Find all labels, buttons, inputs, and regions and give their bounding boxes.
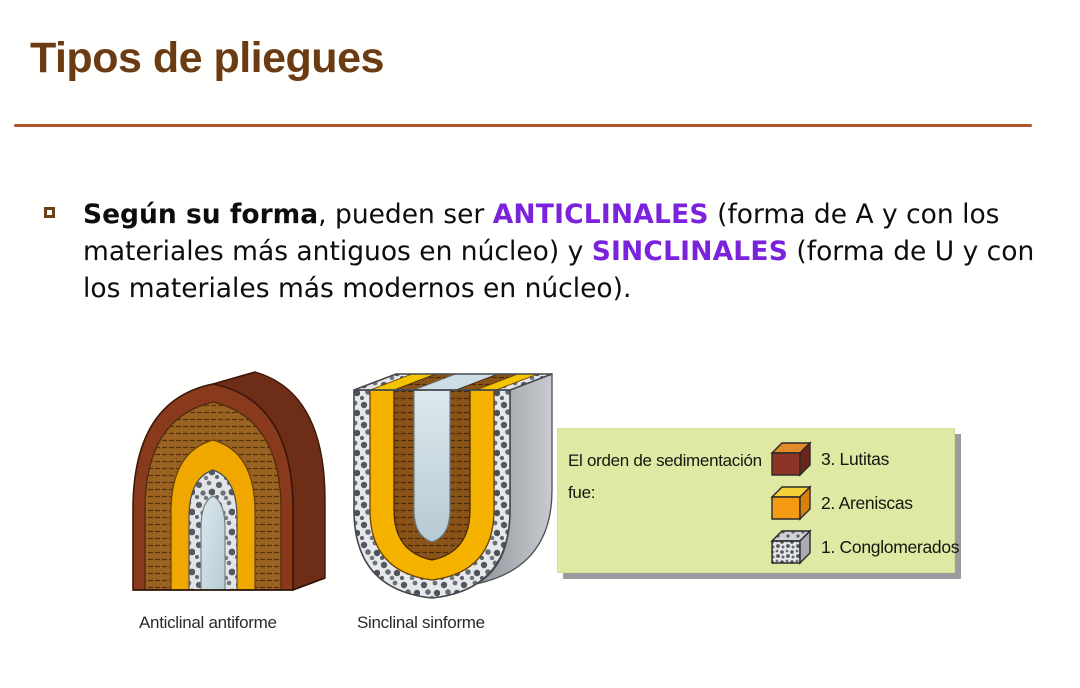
page-title: Tipos de pliegues [30,34,384,83]
keyword-anticlinales: ANTICLINALES [493,199,709,230]
bullet-item-text: Según su forma, pueden ser ANTICLINALES … [83,196,1054,307]
cube-areniscas-icon [770,485,812,521]
bullet-lead-bold: Según su forma [83,199,318,230]
cube-lutitas-icon [770,441,812,477]
anticline-block-diagram [115,360,345,610]
legend-item-conglomerados-label: 1. Conglomerados [821,537,959,558]
legend-item-areniscas: 2. Areniscas [770,481,956,525]
syncline-caption: Sinclinal sinforme [357,613,485,633]
legend-lead-line-1: El orden de sedimentación [568,445,778,477]
legend-box: El orden de sedimentación fue: 3. Lutita… [557,428,955,573]
legend-item-conglomerados: 1. Conglomerados [770,525,956,569]
keyword-sinclinales: SINCLINALES [592,236,788,267]
legend-item-lutitas: 3. Lutitas [770,437,956,481]
legend-item-list: 3. Lutitas 2. Areniscas [770,437,956,569]
cube-conglomerados-icon [770,529,812,565]
legend-lead-text: El orden de sedimentación fue: [568,445,778,509]
legend-lead-line-2: fue: [568,477,778,509]
legend-item-lutitas-label: 3. Lutitas [821,449,889,470]
title-divider [14,124,1032,127]
legend-item-areniscas-label: 2. Areniscas [821,493,913,514]
anticline-caption: Anticlinal antiforme [139,613,277,633]
bullet-list: Según su forma, pueden ser ANTICLINALES … [44,196,1054,307]
square-bullet-icon [44,207,55,218]
bullet-segment-1: , pueden ser [318,199,493,230]
syncline-block-diagram [340,360,570,610]
